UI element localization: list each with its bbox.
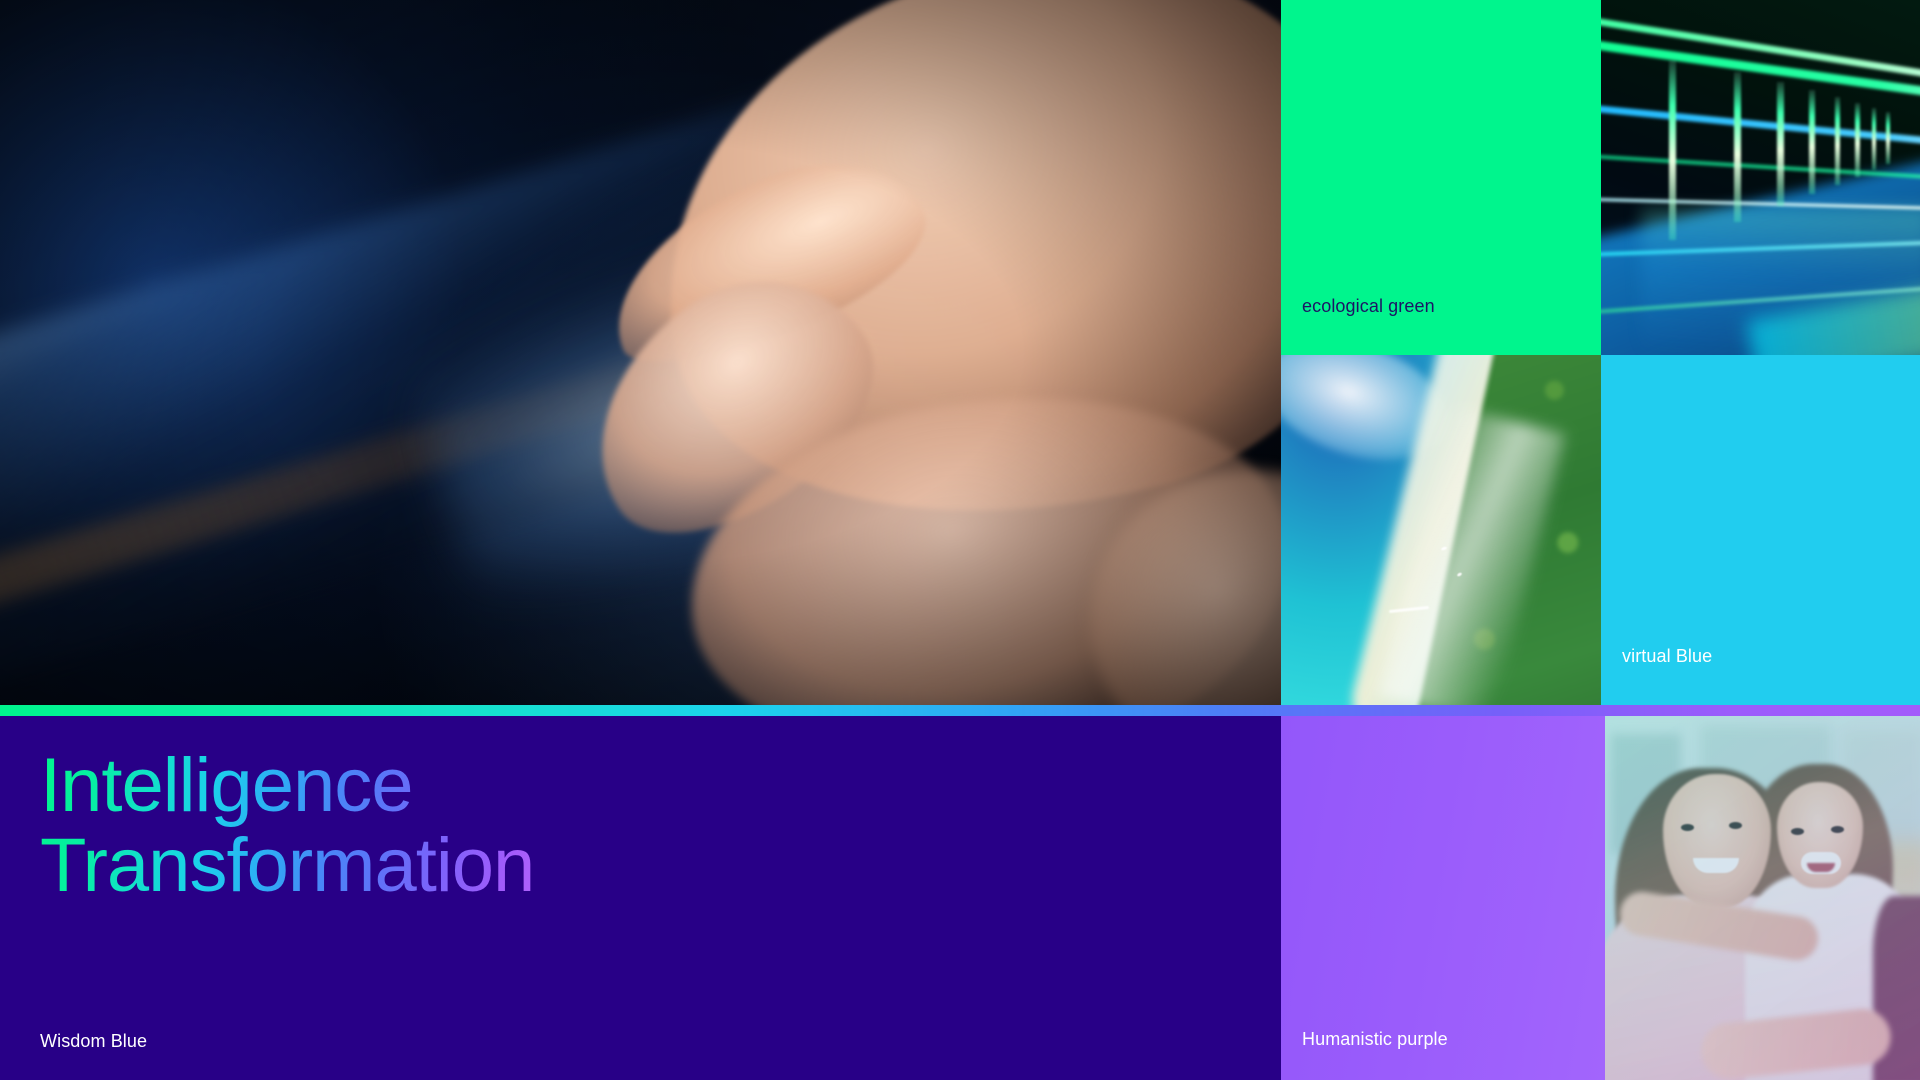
neon-post [1777, 82, 1784, 206]
photo-aerial-coastline [1281, 355, 1601, 705]
brand-moodboard: ecological green [0, 0, 1920, 1080]
swatch-label-ecological-green: ecological green [1302, 295, 1435, 317]
top-row: ecological green [0, 0, 1920, 705]
bottom-row: Intelligence Transformation Wisdom Blue … [0, 716, 1920, 1080]
page-title: Intelligence Transformation [40, 746, 534, 906]
swatch-humanistic-purple: Humanistic purple [1281, 716, 1605, 1080]
photo-neon-tunnel [1601, 0, 1920, 355]
swatch-label-wisdom-blue: Wisdom Blue [40, 1030, 147, 1052]
hero-photo-hand-tablet [0, 0, 1281, 705]
photo-mother-and-daughter [1605, 716, 1920, 1080]
neon-post [1835, 97, 1840, 185]
neon-post [1855, 103, 1860, 177]
duotone-screen-layer [1605, 716, 1920, 1080]
swatch-virtual-blue: virtual Blue [1601, 355, 1920, 705]
swatch-wisdom-blue: Intelligence Transformation Wisdom Blue [0, 716, 1281, 1080]
hero-vignette [0, 0, 1281, 705]
neon-post [1809, 90, 1815, 194]
swatch-label-humanistic-purple: Humanistic purple [1302, 1028, 1448, 1050]
swatch-label-virtual-blue: virtual Blue [1622, 645, 1712, 667]
brand-gradient-rule [0, 705, 1920, 716]
neon-post [1872, 108, 1876, 170]
neon-post [1886, 112, 1890, 164]
neon-post [1734, 72, 1741, 222]
swatch-ecological-green: ecological green [1281, 0, 1601, 355]
